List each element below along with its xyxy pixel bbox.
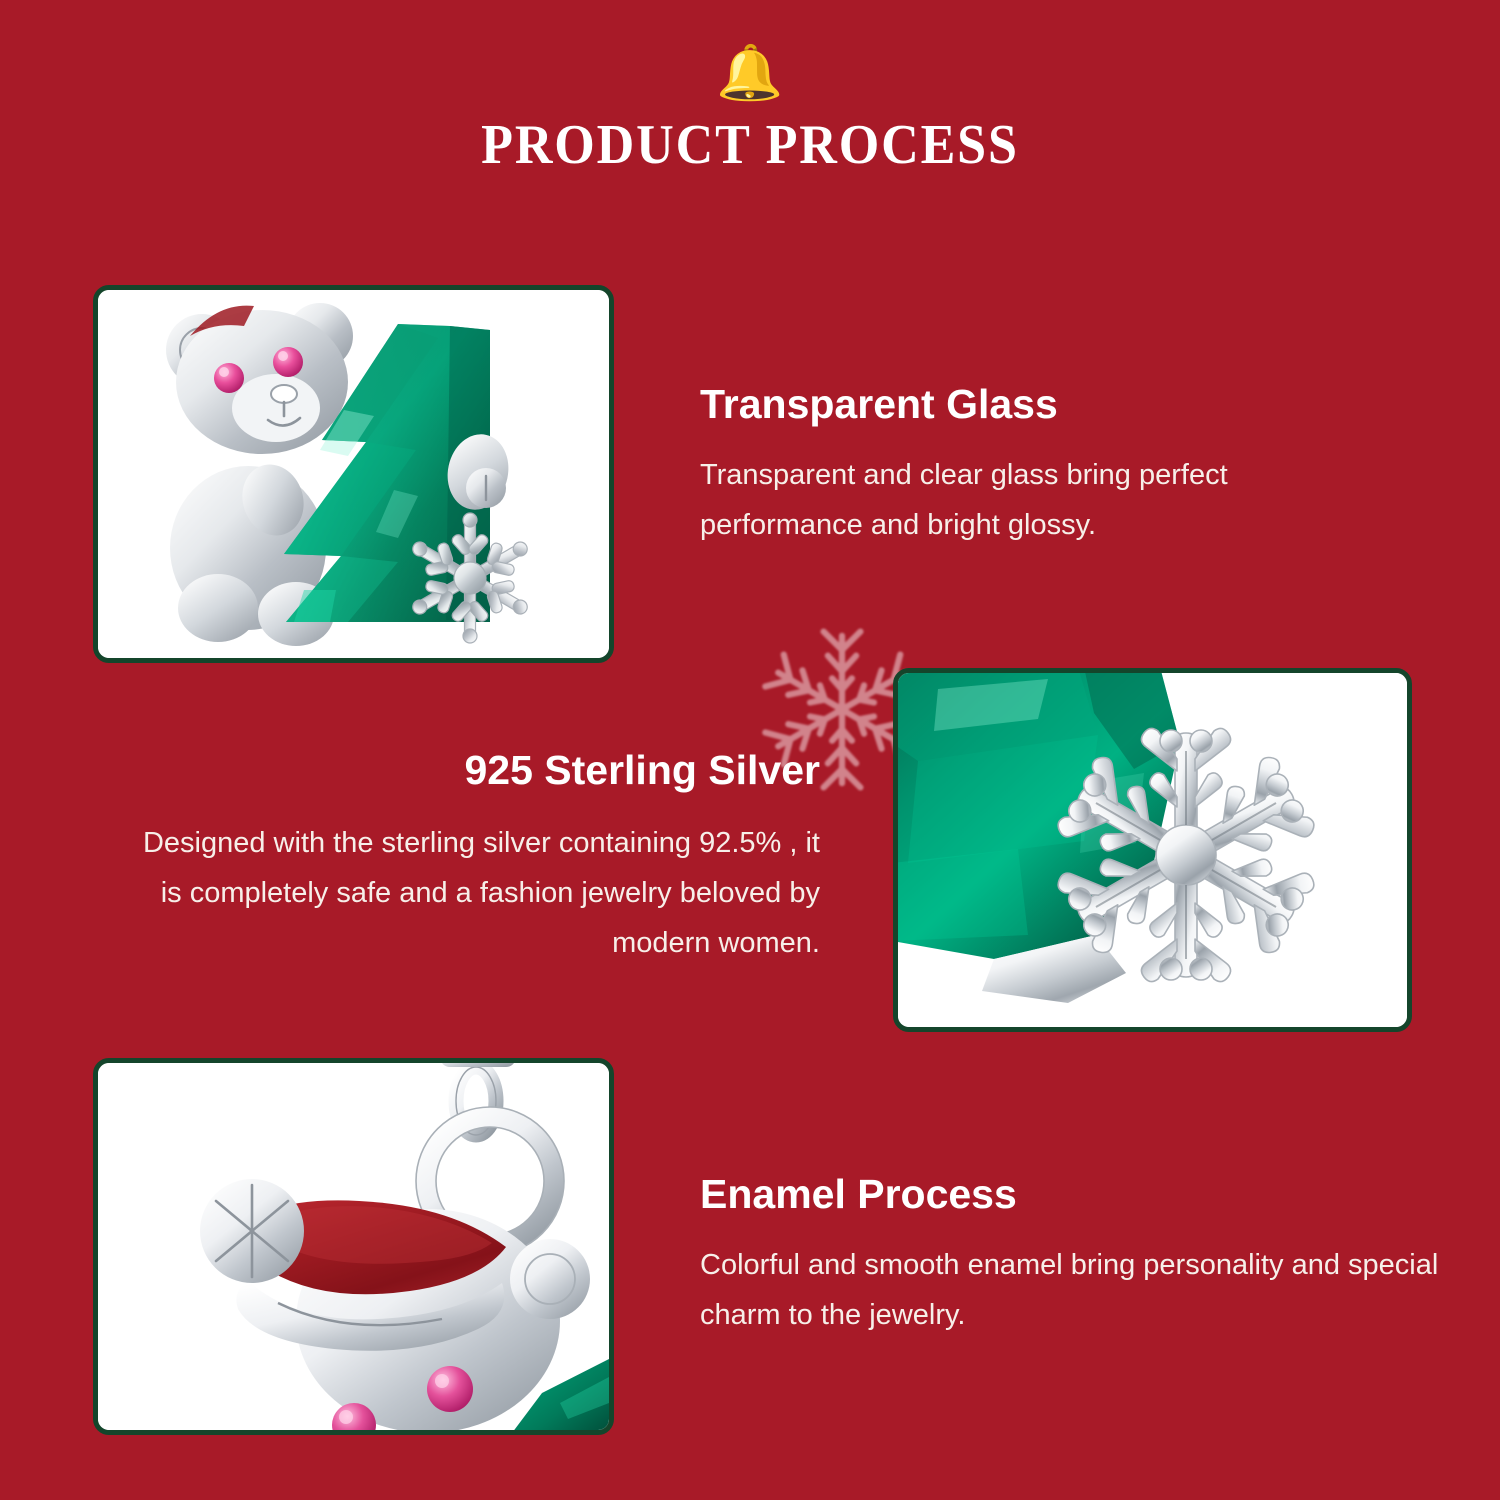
photo-stage <box>98 1063 609 1430</box>
product-process-infographic: 🔔 PRODUCT PROCESS <box>0 0 1500 1500</box>
photo-stage <box>898 673 1407 1027</box>
page-title: PRODUCT PROCESS <box>53 116 1448 175</box>
enamel-santa-hat-closeup-illustration <box>98 1063 609 1430</box>
feature-title: 925 Sterling Silver <box>120 748 820 793</box>
glass-and-snowflake-closeup-illustration <box>898 673 1407 1027</box>
jingle-bells-icon: 🔔 <box>0 46 1500 100</box>
feature-transparent-glass: Transparent Glass Transparent and clear … <box>700 382 1380 551</box>
bear-with-glass-tree-illustration <box>98 290 609 658</box>
feature-description: Transparent and clear glass bring perfec… <box>700 451 1380 551</box>
feature-description: Colorful and smooth enamel bring persona… <box>700 1241 1440 1341</box>
product-image-sterling-silver <box>893 668 1412 1032</box>
product-image-transparent-glass <box>93 285 614 663</box>
feature-title: Transparent Glass <box>700 382 1380 427</box>
feature-title: Enamel Process <box>700 1172 1440 1217</box>
product-image-enamel-process <box>93 1058 614 1435</box>
photo-stage <box>98 290 609 658</box>
feature-description: Designed with the sterling silver contai… <box>120 819 820 969</box>
feature-sterling-silver: 925 Sterling Silver Designed with the st… <box>120 748 820 969</box>
feature-enamel-process: Enamel Process Colorful and smooth ename… <box>700 1172 1440 1341</box>
